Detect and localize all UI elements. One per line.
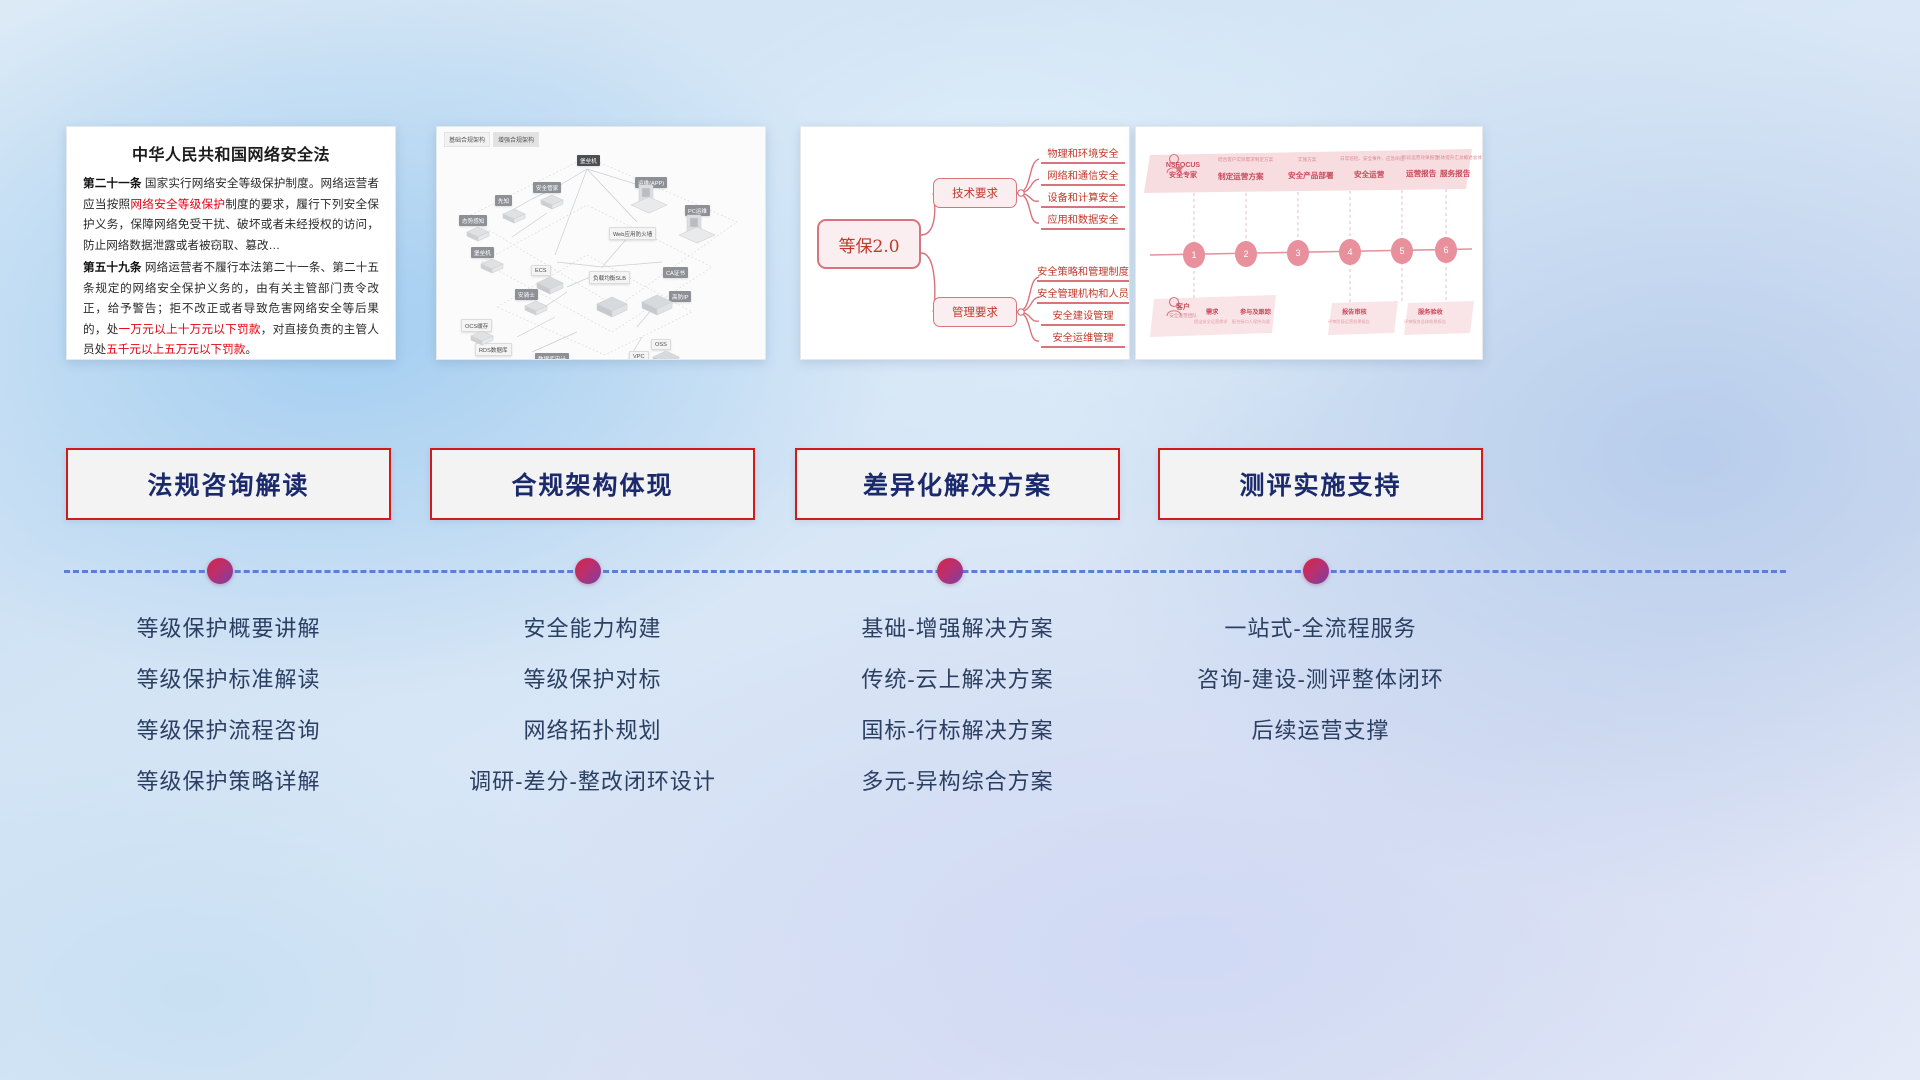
svg-text:1: 1 [1191,250,1196,260]
tag-sub-accept: 评审服务总体效果报告 [1404,319,1446,325]
timeline-dot-2[interactable] [575,558,601,584]
law-article-59: 第五十九条 网络运营者不履行本法第二十一条、第二十五条规定的网络安全保护义务的，… [83,258,379,360]
list-item: 调研-差分-整改闭环设计 [430,756,755,807]
svg-text:4: 4 [1347,247,1352,257]
slide-canvas: 中华人民共和国网络安全法 第二十一条 国家实行网络安全等级保护制度。网络运营者应… [0,0,1920,1080]
mindmap-branch-technical: 技术要求 [933,178,1017,208]
service-flow-diagram: 12 34 56 NSFOCUS 安全专家 [1136,127,1482,359]
list-compliance-architecture: 安全能力构建 等级保护对标 网络拓扑规划 调研-差分-整改闭环设计 [430,603,755,807]
law-article-21-label: 第二十一条 [83,177,142,190]
law-article-21: 第二十一条 国家实行网络安全等级保护制度。网络运营者应当按照网络安全等级保护制度… [83,174,379,256]
mindmap: 等保2.0 技术要求 管理要求 物理和环境安全 网络和通信安全 设备和计算安全 … [801,127,1129,359]
mindmap-leaf-network-comm-security: 网络和通信安全 [1041,167,1125,186]
tag-sub-review: 评审阶段运营效果报告 [1328,319,1370,325]
nsfocus-expert-role: 安全专家 [1160,171,1206,181]
architecture-diagram: 基础合规架构 增强合规架构 [437,127,765,359]
customer-name: 客户 [1160,303,1206,313]
list-regulation-consulting: 等级保护概要讲解 等级保护标准解读 等级保护流程咨询 等级保护策略详解 [66,603,391,807]
header-compliance-architecture[interactable]: 合规架构体现 [430,448,755,520]
card-mindmap-dengbao[interactable]: 等保2.0 技术要求 管理要求 物理和环境安全 网络和通信安全 设备和计算安全 … [800,126,1130,360]
law-article-59-text-c: 。 [245,343,257,356]
card-cybersecurity-law[interactable]: 中华人民共和国网络安全法 第二十一条 国家实行网络安全等级保护制度。网络运营者应… [66,126,396,360]
timeline [0,558,1920,584]
header-assessment-support[interactable]: 测评实施支持 [1158,448,1483,520]
mindmap-branch-management: 管理要求 [933,297,1017,327]
preview-cards-row: 中华人民共和国网络安全法 第二十一条 国家实行网络安全等级保护制度。网络运营者应… [0,126,1920,360]
list-item: 咨询-建设-测评整体闭环 [1158,654,1483,705]
svg-text:3: 3 [1295,248,1300,258]
list-item: 国标-行标解决方案 [795,705,1120,756]
banner-title-3: 安全运营 [1354,169,1384,180]
list-differentiated-solution: 基础-增强解决方案 传统-云上解决方案 国标-行标解决方案 多元-异构综合方案 [795,603,1120,807]
mindmap-leaf-security-org-personnel: 安全管理机构和人员 [1037,285,1129,304]
mindmap-leaf-security-construction: 安全建设管理 [1041,307,1125,326]
timeline-dashed-line [64,570,1786,573]
banner-sub-1: 结合客户实际需求制定方案 [1218,157,1273,163]
svg-text:6: 6 [1443,245,1448,255]
list-item: 基础-增强解决方案 [795,603,1120,654]
tag-sub-demand: 提出安全运营需求 [1194,319,1228,325]
svg-text:5: 5 [1399,246,1404,256]
card-cloud-architecture[interactable]: 基础合规架构 增强合规架构 [436,126,766,360]
svg-text:2: 2 [1243,249,1248,259]
banner-title-2: 安全产品部署 [1288,170,1334,181]
card-nsfocus-service-flow[interactable]: 12 34 56 NSFOCUS 安全专家 [1135,126,1483,360]
customer-label: 客户 安全运营团队 [1160,303,1206,319]
mindmap-leaf-app-data-security: 应用和数据安全 [1041,211,1125,230]
banner-sub-4: 阶段运营效果报告 [1402,155,1439,161]
mindmap-leaf-physical-env-security: 物理和环境安全 [1041,145,1125,164]
list-item: 等级保护流程咨询 [66,705,391,756]
timeline-dot-4[interactable] [1303,558,1329,584]
banner-sub-5: 总体提升汇总概述总体运营效果 [1436,155,1483,161]
tag-title-followup: 参与及跟踪 [1240,307,1271,316]
timeline-dot-1[interactable] [207,558,233,584]
list-item: 一站式-全流程服务 [1158,603,1483,654]
list-item: 传统-云上解决方案 [795,654,1120,705]
law-article-21-highlight: 网络安全等级保护 [130,198,225,211]
banner-title-4: 运营报告 [1406,168,1436,179]
header-regulation-consulting[interactable]: 法规咨询解读 [66,448,391,520]
nsfocus-expert-name: NSFOCUS [1160,161,1206,171]
law-article-59-highlight-2: 五千元以上五万元以下罚款 [106,343,245,356]
mindmap-leaf-security-operations: 安全运维管理 [1041,329,1125,348]
banner-title-1: 制定运营方案 [1218,171,1264,182]
list-item: 多元-异构综合方案 [795,756,1120,807]
list-item: 后续运营支撑 [1158,705,1483,756]
nsfocus-expert-label: NSFOCUS 安全专家 [1160,161,1206,181]
list-item: 等级保护标准解读 [66,654,391,705]
law-title: 中华人民共和国网络安全法 [83,141,379,165]
architecture-cubes [437,127,766,360]
law-document: 中华人民共和国网络安全法 第二十一条 国家实行网络安全等级保护制度。网络运营者应… [67,127,395,360]
list-item: 网络拓扑规划 [430,705,755,756]
banner-title-5: 服务报告 [1440,168,1470,179]
mindmap-leaf-security-policy-system: 安全策略和管理制度 [1037,263,1129,282]
header-differentiated-solution[interactable]: 差异化解决方案 [795,448,1120,520]
tag-title-review: 报告审核 [1342,307,1367,316]
list-item: 等级保护对标 [430,654,755,705]
tag-sub-followup: 配合接口人保持沟通 [1232,319,1270,325]
tag-title-accept: 服务验收 [1418,307,1443,316]
banner-sub-2: 实施方案 [1298,157,1316,163]
banner-sub-3: 日常巡检、安全事件、应急响应 [1340,156,1404,162]
list-assessment-support: 一站式-全流程服务 咨询-建设-测评整体闭环 后续运营支撑 [1158,603,1483,756]
list-item: 等级保护策略详解 [66,756,391,807]
law-article-59-label: 第五十九条 [83,261,142,274]
mindmap-leaf-device-compute-security: 设备和计算安全 [1041,189,1125,208]
detail-lists-row: 等级保护概要讲解 等级保护标准解读 等级保护流程咨询 等级保护策略详解 安全能力… [0,603,1920,823]
timeline-dot-3[interactable] [937,558,963,584]
section-headers-row: 法规咨询解读 合规架构体现 差异化解决方案 测评实施支持 [0,448,1920,520]
list-item: 安全能力构建 [430,603,755,654]
law-article-59-highlight-1: 一万元以上十万元以下罚款 [119,323,261,336]
list-item: 等级保护概要讲解 [66,603,391,654]
mindmap-root-node: 等保2.0 [817,219,921,269]
tag-title-demand: 需求 [1206,307,1218,316]
